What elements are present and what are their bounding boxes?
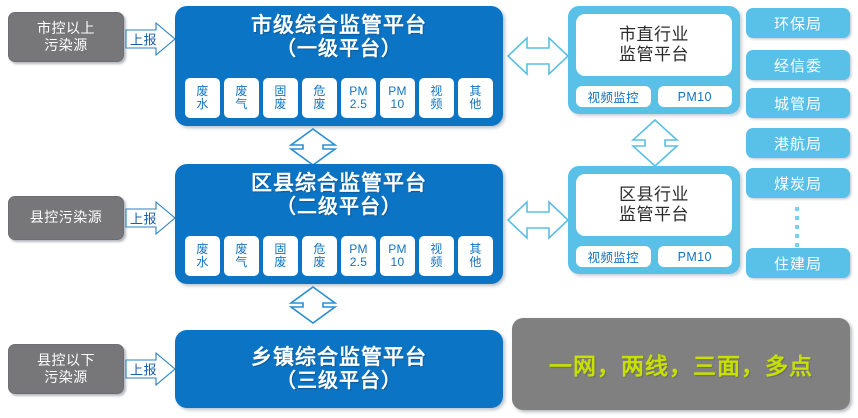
platform-level2-title-group: 区县综合监管平台 （二级平台） (175, 164, 503, 219)
dept-jingxinwei[interactable]: 经信委 (746, 50, 850, 80)
industry-platform-county-chips: 视频监控 PM10 (576, 246, 732, 267)
platform-level1: 市级综合监管平台 （一级平台） 废 水 废 气 固 废 危 废 PM 2.5 P… (175, 6, 503, 126)
chip-line2: 10 (388, 256, 407, 269)
double-arrow-vertical-icon (283, 286, 343, 324)
platform-level2-title: 区县综合监管平台 (175, 172, 503, 196)
platform-level3-title-group: 乡镇综合监管平台 （三级平台） (251, 346, 427, 393)
source-line-1: 市控以上 (37, 20, 95, 37)
slogan-text: 一网，两线，三面，多点 (549, 347, 813, 381)
platform-level1-title: 市级综合监管平台 (175, 14, 503, 38)
platform-level3-subtitle: （三级平台） (251, 370, 427, 393)
chip-gufei[interactable]: 固 废 (263, 236, 298, 276)
chip-line2: 他 (469, 256, 481, 269)
dept-chengguanju[interactable]: 城管局 (746, 88, 850, 118)
chip-line2: 水 (196, 98, 208, 111)
chip-line2: 2.5 (349, 256, 368, 269)
chip-feishui[interactable]: 废 水 (185, 236, 220, 276)
chip-feiqi[interactable]: 废 气 (224, 78, 259, 118)
industry-title-line2: 监管平台 (619, 45, 689, 65)
dept-meitanju[interactable]: 煤炭局 (746, 168, 850, 198)
industry-platform-county-title: 区县行业 监管平台 (576, 174, 732, 236)
industry-chip-video[interactable]: 视频监控 (576, 86, 651, 107)
chip-qita[interactable]: 其 他 (458, 78, 493, 118)
industry-platform-city-chips: 视频监控 PM10 (576, 86, 732, 107)
chip-qita[interactable]: 其 他 (458, 236, 493, 276)
connector-level2-industry (507, 192, 569, 248)
chip-pm25[interactable]: PM 2.5 (341, 236, 376, 276)
platform-level1-title-group: 市级综合监管平台 （一级平台） (175, 6, 503, 61)
industry-chip-video[interactable]: 视频监控 (576, 246, 651, 267)
report-arrow-label: 上报 (130, 30, 157, 49)
double-arrow-horizontal-icon (507, 192, 569, 248)
platform-level3-title: 乡镇综合监管平台 (251, 346, 427, 370)
chip-weifei[interactable]: 危 废 (302, 236, 337, 276)
architecture-diagram: 市控以上 污染源 上报 市级综合监管平台 （一级平台） 废 水 废 气 固 废 … (0, 0, 858, 418)
platform-level1-subtitle: （一级平台） (175, 38, 503, 61)
source-line-1: 县控污染源 (30, 209, 103, 226)
industry-title-line1: 市直行业 (619, 25, 689, 45)
chip-shipin[interactable]: 视 频 (419, 78, 454, 118)
connector-level1-industry (507, 28, 569, 84)
chip-feiqi[interactable]: 废 气 (224, 236, 259, 276)
industry-chip-pm10[interactable]: PM10 (658, 86, 733, 107)
chip-line2: 气 (235, 256, 247, 269)
platform-level2: 区县综合监管平台 （二级平台） 废 水 废 气 固 废 危 废 PM 2.5 P… (175, 164, 503, 284)
source-box-below-county: 县控以下 污染源 (8, 344, 124, 394)
report-arrow-county: 上报 (126, 201, 176, 235)
source-line-2: 污染源 (37, 37, 95, 54)
chip-line2: 废 (274, 256, 286, 269)
double-arrow-horizontal-icon (507, 28, 569, 84)
chip-line2: 频 (430, 98, 442, 111)
report-arrow-label: 上报 (130, 209, 157, 228)
platform-level2-subtitle: （二级平台） (175, 196, 503, 219)
source-line-1: 县控以下 (37, 352, 95, 369)
chip-shipin[interactable]: 视 频 (419, 236, 454, 276)
chip-line2: 气 (235, 98, 247, 111)
chip-pm10[interactable]: PM 10 (380, 78, 415, 118)
connector-level1-level2 (283, 128, 343, 166)
chip-weifei[interactable]: 危 废 (302, 78, 337, 118)
industry-platform-county: 区县行业 监管平台 视频监控 PM10 (568, 166, 740, 274)
chip-line2: 水 (196, 256, 208, 269)
source-box-city: 市控以上 污染源 (8, 12, 124, 62)
chip-line2: 废 (313, 256, 325, 269)
chip-line2: 10 (388, 98, 407, 111)
chip-line2: 2.5 (349, 98, 368, 111)
platform-level2-chips: 废 水 废 气 固 废 危 废 PM 2.5 PM 10 视 频 其 (185, 236, 493, 276)
dept-zhujianju[interactable]: 住建局 (746, 248, 850, 278)
source-line-2: 污染源 (37, 369, 95, 386)
slogan-box: 一网，两线，三面，多点 (512, 318, 850, 410)
double-arrow-vertical-icon (283, 128, 343, 166)
chip-line2: 他 (469, 98, 481, 111)
dept-huanbaoju[interactable]: 环保局 (746, 8, 850, 38)
report-arrow-below-county: 上报 (126, 352, 176, 386)
report-arrow-city: 上报 (126, 22, 176, 56)
chip-pm10[interactable]: PM 10 (380, 236, 415, 276)
connector-level2-level3 (283, 286, 343, 324)
industry-platform-city: 市直行业 监管平台 视频监控 PM10 (568, 6, 740, 114)
chip-line2: 废 (313, 98, 325, 111)
industry-platform-city-title: 市直行业 监管平台 (576, 14, 732, 76)
chip-line2: 废 (274, 98, 286, 111)
platform-level3: 乡镇综合监管平台 （三级平台） (175, 330, 503, 408)
dept-ganghangju[interactable]: 港航局 (746, 128, 850, 158)
chip-pm25[interactable]: PM 2.5 (341, 78, 376, 118)
industry-title-line1: 区县行业 (619, 185, 689, 205)
chip-feishui[interactable]: 废 水 (185, 78, 220, 118)
double-arrow-vertical-icon (625, 118, 685, 168)
connector-industry-city-county (625, 118, 685, 168)
chip-line2: 频 (430, 256, 442, 269)
platform-level1-chips: 废 水 废 气 固 废 危 废 PM 2.5 PM 10 视 频 其 (185, 78, 493, 118)
source-box-county: 县控污染源 (8, 196, 124, 240)
industry-chip-pm10[interactable]: PM10 (658, 246, 733, 267)
dept-ellipsis-icon (794, 207, 800, 247)
chip-gufei[interactable]: 固 废 (263, 78, 298, 118)
report-arrow-label: 上报 (130, 360, 157, 379)
industry-title-line2: 监管平台 (619, 205, 689, 225)
